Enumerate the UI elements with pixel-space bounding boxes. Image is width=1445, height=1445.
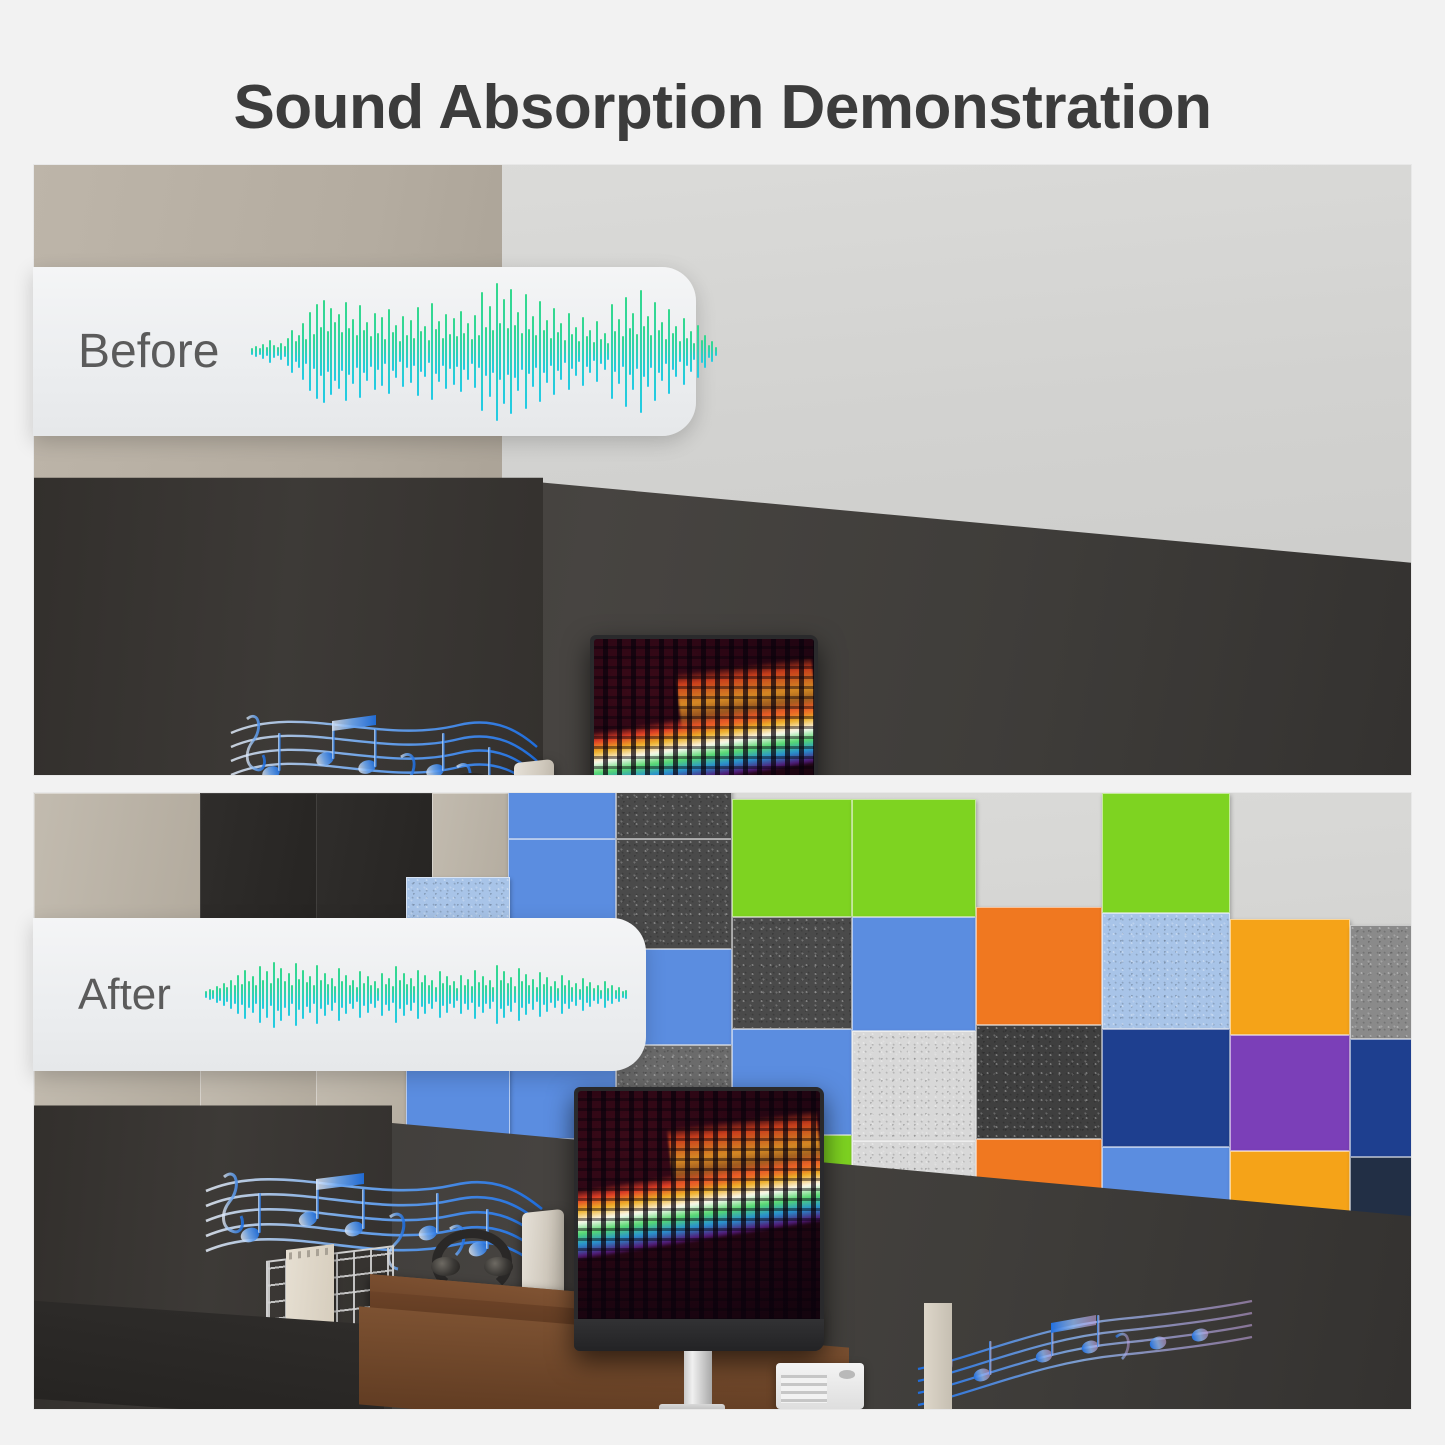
wall-pillar — [924, 1303, 952, 1410]
waveform-bar — [478, 335, 480, 367]
waveform-bar — [295, 341, 297, 362]
waveform-bar — [554, 981, 556, 1007]
waveform-bar — [262, 980, 264, 1010]
waveform-bar — [596, 321, 598, 381]
waveform-bar — [269, 340, 271, 364]
waveform-bar — [604, 981, 606, 1007]
waveform-bar — [683, 318, 685, 385]
waveform-bar — [442, 983, 444, 1006]
waveform-bar — [284, 981, 286, 1007]
waveform-bar — [561, 975, 563, 1015]
waveform-bar — [604, 333, 606, 370]
waveform-bar — [388, 309, 390, 393]
waveform-bar — [575, 983, 577, 1006]
waveform-bar — [471, 986, 473, 1003]
waveform-bar — [589, 330, 591, 373]
waveform-bar — [535, 335, 537, 367]
acoustic-tile — [1102, 913, 1230, 1029]
waveform-bar — [564, 985, 566, 1005]
waveform-bar — [363, 983, 365, 1006]
waveform-bar — [640, 290, 642, 413]
waveform-bar — [266, 347, 268, 357]
before-photo-panel — [33, 164, 1412, 776]
waveform-bar — [597, 985, 599, 1005]
waveform-bar — [460, 311, 462, 393]
waveform-bar — [492, 330, 494, 373]
acoustic-tile — [732, 799, 852, 917]
waveform-bar — [345, 975, 347, 1015]
waveform-bar — [309, 976, 311, 1012]
waveform-bar — [507, 328, 509, 375]
waveform-bar — [474, 315, 476, 388]
waveform-bar — [410, 320, 412, 383]
acoustic-tile — [852, 917, 976, 1031]
acoustic-tile — [1350, 1039, 1412, 1157]
curved-monitor — [574, 1087, 824, 1351]
waveform-bar — [399, 341, 401, 363]
waveform-bar — [295, 963, 297, 1026]
waveform-bar — [374, 981, 376, 1007]
waveform-bar — [499, 323, 501, 379]
waveform-bar — [259, 966, 261, 1022]
waveform-bar — [582, 317, 584, 386]
waveform-bar — [252, 976, 254, 1012]
waveform-bar — [467, 323, 469, 379]
acoustic-tile — [1230, 919, 1350, 1035]
waveform-bar — [385, 984, 387, 1005]
waveform-bar — [273, 345, 275, 358]
waveform-bar — [348, 328, 350, 375]
waveform-bar — [359, 305, 361, 398]
waveform-bar — [622, 991, 624, 998]
waveform-bar — [313, 334, 315, 370]
waveform-bar — [324, 973, 326, 1016]
waveform-bar — [435, 329, 437, 374]
waveform-bar — [575, 327, 577, 377]
waveform-bar — [690, 331, 692, 372]
acoustic-tile — [1102, 793, 1230, 913]
equalizer-rows — [594, 639, 815, 776]
waveform-bar — [679, 341, 681, 363]
monitor-foot — [659, 1404, 725, 1410]
waveform-bar — [377, 988, 379, 1001]
before-waveform-card: Before — [33, 267, 696, 436]
waveform-bar — [284, 346, 286, 358]
waveform-bar — [489, 980, 491, 1008]
waveform-bar — [715, 347, 717, 356]
waveform-bar — [309, 312, 311, 392]
waveform-bar — [456, 336, 458, 366]
waveform-bar — [553, 308, 555, 394]
waveform-bar — [402, 316, 404, 387]
waveform-bar — [611, 985, 613, 1003]
waveform-bar — [550, 338, 552, 366]
waveform-bar — [704, 335, 706, 367]
waveform-bar — [388, 978, 390, 1011]
page-title: Sound Absorption Demonstration — [0, 72, 1445, 143]
waveform-bar — [571, 334, 573, 369]
waveform-bar — [356, 335, 358, 367]
waveform-bar — [406, 984, 408, 1005]
waveform-bar — [410, 978, 412, 1011]
waveform-bar — [463, 333, 465, 370]
waveform-bar — [316, 304, 318, 399]
waveform-bar — [543, 984, 545, 1005]
waveform-bar — [492, 987, 494, 1002]
waveform-bar — [557, 332, 559, 371]
waveform-bar — [363, 330, 365, 373]
waveform-bar — [234, 985, 236, 1003]
waveform-bar — [697, 325, 699, 379]
waveform-bar — [632, 313, 634, 391]
waveform-bar — [471, 339, 473, 365]
waveform-bar — [291, 985, 293, 1005]
waveform-bar — [625, 297, 627, 407]
waveform-bar — [255, 346, 257, 357]
waveform-bar — [352, 319, 354, 384]
waveform-bar — [381, 317, 383, 386]
waveform-bar — [341, 981, 343, 1007]
waveform-bar — [672, 333, 674, 370]
waveform-bar — [611, 304, 613, 399]
waveform-bar — [622, 336, 624, 366]
waveform-bar — [503, 971, 505, 1017]
waveform-bar — [334, 986, 336, 1003]
waveform-bar — [625, 990, 627, 1000]
waveform-bar — [496, 283, 498, 421]
waveform-bar — [589, 982, 591, 1007]
waveform-bar — [525, 974, 527, 1015]
waveform-bar — [643, 326, 645, 378]
waveform-bar — [579, 989, 581, 1001]
waveform-bar — [431, 303, 433, 400]
acoustic-tile — [1230, 1035, 1350, 1151]
acoustic-tile — [1102, 1029, 1230, 1147]
waveform-bar — [291, 330, 293, 373]
waveform-bar — [525, 294, 527, 408]
waveform-bar — [607, 343, 609, 360]
acoustic-tile — [976, 1025, 1102, 1139]
waveform-bar — [582, 978, 584, 1011]
waveform-bar — [352, 980, 354, 1010]
waveform-bar — [251, 348, 253, 355]
waveform-bar — [320, 327, 322, 376]
waveform-bar — [359, 971, 361, 1017]
waveform-bar — [248, 981, 250, 1007]
waveform-bar — [514, 325, 516, 379]
waveform-bar — [270, 983, 272, 1006]
laptop-stand — [514, 759, 554, 776]
waveform-bar — [543, 330, 545, 373]
waveform-bar — [661, 322, 663, 380]
waveform-bar — [521, 333, 523, 370]
waveform-bar — [449, 334, 451, 369]
acoustic-tile — [508, 792, 616, 839]
waveform-bar — [557, 988, 559, 1001]
waveform-bar — [528, 985, 530, 1005]
waveform-bar — [262, 344, 264, 359]
waveform-bar — [546, 320, 548, 383]
waveform-bar — [478, 982, 480, 1007]
waveform-bar — [571, 987, 573, 1002]
waveform-bar — [428, 340, 430, 364]
waveform-bar — [413, 338, 415, 366]
waveform-bar — [277, 978, 279, 1011]
headphone-cup-right — [484, 1257, 513, 1276]
waveform-bar — [708, 345, 710, 358]
waveform-bar — [424, 975, 426, 1015]
equalizer-rows — [578, 1091, 820, 1323]
waveform-bar — [287, 338, 289, 366]
waveform-bar — [302, 970, 304, 1020]
waveform-bar — [216, 986, 218, 1003]
waveform-bar — [607, 988, 609, 1001]
waveform-bar — [384, 339, 386, 365]
waveform-bar — [428, 985, 430, 1005]
waveform-bar — [507, 983, 509, 1006]
waveform-bar — [654, 302, 656, 401]
monitor-screen — [578, 1091, 820, 1323]
waveform-bar — [528, 329, 530, 374]
waveform-bar — [536, 987, 538, 1002]
waveform-bar — [313, 985, 315, 1003]
monitor-bezel — [590, 635, 818, 776]
monitor-neck — [684, 1351, 712, 1407]
waveform-bar — [636, 334, 638, 369]
waveform-bar — [539, 972, 541, 1017]
acoustic-tile — [852, 799, 976, 917]
waveform-bar — [280, 968, 282, 1021]
waveform-bar — [701, 340, 703, 364]
waveform-bar — [338, 314, 340, 390]
waveform-bar — [331, 978, 333, 1011]
waveform-bar — [503, 299, 505, 405]
waveform-bar — [259, 348, 261, 356]
waveform-bar — [392, 986, 394, 1003]
waveform-bar — [539, 301, 541, 402]
waveform-bar — [288, 973, 290, 1016]
waveform-bar — [614, 331, 616, 372]
acoustic-tile — [976, 907, 1102, 1025]
waveform-bar — [392, 332, 394, 371]
waveform-bar — [675, 326, 677, 378]
waveform-bar — [230, 980, 232, 1010]
waveform-bar — [421, 982, 423, 1007]
waveform-bar — [647, 316, 649, 387]
white-speaker — [776, 1363, 864, 1409]
waveform-bar — [327, 331, 329, 372]
acoustic-tile — [852, 1031, 976, 1141]
waveform-bar — [370, 985, 372, 1003]
before-waveform — [251, 267, 718, 436]
waveform-bar — [374, 313, 376, 391]
waveform-bar — [453, 981, 455, 1007]
waveform-bar — [686, 338, 688, 366]
waveform-bar — [693, 343, 695, 360]
waveform-bar — [550, 986, 552, 1003]
waveform-bar — [399, 980, 401, 1008]
waveform-bar — [327, 984, 329, 1005]
waveform-bar — [424, 326, 426, 378]
waveform-bar — [586, 986, 588, 1003]
waveform-bar — [341, 332, 343, 371]
waveform-bar — [474, 970, 476, 1020]
waveform-bar — [305, 339, 307, 365]
waveform-bar — [439, 971, 441, 1017]
waveform-bar — [431, 980, 433, 1010]
waveform-bar — [438, 321, 440, 381]
waveform-bar — [395, 325, 397, 379]
waveform-bar — [546, 977, 548, 1012]
waveform-bar — [665, 339, 667, 365]
waveform-bar — [395, 966, 397, 1022]
after-label: After — [78, 970, 171, 1020]
waveform-bar — [485, 985, 487, 1003]
waveform-bar — [241, 984, 243, 1005]
waveform-bar — [403, 973, 405, 1016]
after-waveform-card: After — [33, 918, 646, 1071]
waveform-bar — [406, 335, 408, 367]
waveform-bar — [568, 980, 570, 1010]
acoustic-tile — [1350, 925, 1412, 1039]
waveform-bar — [489, 306, 491, 397]
waveform-bar — [467, 979, 469, 1010]
waveform-bar — [442, 338, 444, 366]
waveform-bar — [277, 347, 279, 356]
waveform-bar — [330, 308, 332, 394]
waveform-bar — [532, 316, 534, 387]
waveform-bar — [593, 988, 595, 1001]
waveform-bar — [658, 330, 660, 373]
waveform-bar — [500, 980, 502, 1010]
waveform-bar — [370, 336, 372, 366]
curved-monitor — [590, 635, 818, 776]
infographic-root: Sound Absorption Demonstration — [0, 0, 1445, 1445]
waveform-bar — [334, 322, 336, 380]
waveform-bar — [306, 982, 308, 1007]
waveform-bar — [481, 292, 483, 411]
waveform-bar — [560, 323, 562, 379]
monitor-bezel — [574, 1087, 824, 1351]
waveform-bar — [600, 339, 602, 365]
waveform-bar — [255, 985, 257, 1005]
waveform-bar — [377, 333, 379, 370]
after-photo-panel — [33, 792, 1412, 1410]
after-waveform — [205, 918, 629, 1071]
waveform-bar — [237, 975, 239, 1015]
waveform-bar — [668, 309, 670, 393]
waveform-bar — [446, 976, 448, 1012]
waveform-bar — [223, 983, 225, 1006]
waveform-bar — [345, 302, 347, 401]
waveform-bar — [600, 990, 602, 1000]
waveform-bar — [356, 987, 358, 1002]
waveform-bar — [568, 313, 570, 391]
waveform-bar — [367, 976, 369, 1012]
monitor-screen — [594, 639, 815, 776]
waveform-bar — [578, 341, 580, 363]
waveform-bar — [518, 968, 520, 1021]
waveform-bar — [349, 985, 351, 1005]
waveform-bar — [323, 300, 325, 404]
waveform-bar — [205, 991, 207, 998]
waveform-bar — [445, 314, 447, 390]
waveform-bar — [413, 986, 415, 1003]
waveform-bar — [464, 985, 466, 1005]
waveform-bar — [338, 968, 340, 1021]
waveform-bar — [629, 328, 631, 375]
waveform-bar — [532, 979, 534, 1010]
waveform-bar — [615, 990, 617, 998]
waveform-bar — [510, 289, 512, 414]
waveform-bar — [302, 323, 304, 379]
waveform-bar — [586, 336, 588, 366]
waveform-bar — [517, 312, 519, 392]
waveform-bar — [212, 990, 214, 998]
waveform-bar — [366, 322, 368, 381]
waveform-bar — [266, 971, 268, 1017]
waveform-bar — [456, 988, 458, 1001]
waveform-bar — [564, 340, 566, 364]
waveform-bar — [510, 977, 512, 1012]
acoustic-tile — [616, 792, 732, 839]
waveform-bar — [420, 331, 422, 372]
waveform-bar — [244, 970, 246, 1020]
waveform-bar — [320, 980, 322, 1010]
waveform-bar — [381, 973, 383, 1016]
waveform-bar — [435, 987, 437, 1002]
waveform-bar — [460, 975, 462, 1015]
before-label: Before — [78, 324, 219, 379]
waveform-bar — [514, 986, 516, 1003]
waveform-bar — [650, 335, 652, 367]
waveform-bar — [417, 970, 419, 1020]
waveform-bar — [521, 981, 523, 1007]
waveform-bar — [219, 988, 221, 1001]
waveform-bar — [298, 335, 300, 367]
waveform-bar — [280, 343, 282, 360]
waveform-bar — [618, 987, 620, 1002]
acoustic-tile — [732, 917, 852, 1029]
monitor-chin — [574, 1319, 824, 1351]
headphone-cup-left — [431, 1257, 460, 1276]
waveform-bar — [298, 979, 300, 1010]
waveform-bar — [226, 987, 228, 1002]
waveform-bar — [711, 341, 713, 363]
waveform-bar — [209, 989, 211, 1001]
waveform-bar — [593, 342, 595, 361]
waveform-bar — [316, 965, 318, 1024]
waveform-bar — [618, 319, 620, 384]
waveform-bar — [417, 307, 419, 395]
waveform-bar — [496, 965, 498, 1024]
waveform-bar — [482, 976, 484, 1014]
waveform-bar — [449, 985, 451, 1003]
waveform-bar — [453, 318, 455, 385]
waveform-bar — [485, 327, 487, 377]
waveform-bar — [273, 962, 275, 1028]
